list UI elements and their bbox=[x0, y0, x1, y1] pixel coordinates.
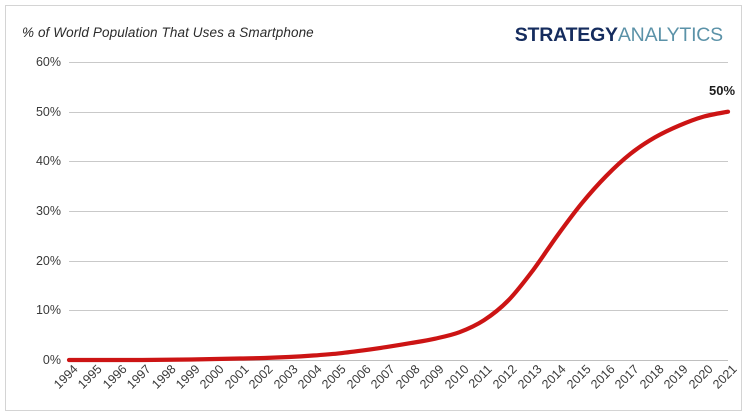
logo-secondary-text: ANALYTICS bbox=[618, 24, 723, 46]
x-axis-tick-label: 1995 bbox=[76, 362, 106, 392]
chart-frame: % of World Population That Uses a Smartp… bbox=[5, 5, 742, 411]
plot-area: 0%10%20%30%40%50%60% 50% bbox=[69, 62, 728, 360]
x-axis-tick-label: 1996 bbox=[100, 362, 130, 392]
smartphone-adoption-line bbox=[69, 112, 728, 360]
x-axis-labels-group: 1994199519961997199819992000200120022003… bbox=[69, 362, 728, 420]
x-axis-tick-label: 2005 bbox=[320, 362, 350, 392]
chart-title: % of World Population That Uses a Smartp… bbox=[22, 25, 314, 40]
x-axis-tick-label: 2002 bbox=[246, 362, 276, 392]
x-axis-tick-label: 1999 bbox=[173, 362, 203, 392]
x-axis-tick-label: 2017 bbox=[613, 362, 643, 392]
logo-primary-text: STRATEGY bbox=[515, 24, 618, 46]
series-line-chart bbox=[69, 62, 728, 360]
x-axis-tick-label: 2012 bbox=[490, 362, 520, 392]
strategy-analytics-logo: STRATEGYANALYTICS bbox=[515, 24, 723, 47]
x-axis-tick-label: 2007 bbox=[368, 362, 398, 392]
y-axis-tick-label: 40% bbox=[36, 154, 61, 168]
x-axis-tick-label: 2003 bbox=[271, 362, 301, 392]
x-axis-tick-label: 2020 bbox=[686, 362, 716, 392]
x-axis-tick-label: 2006 bbox=[344, 362, 374, 392]
x-axis-tick-label: 2015 bbox=[564, 362, 594, 392]
x-axis-tick-label: 2013 bbox=[515, 362, 545, 392]
x-axis-tick-label: 2016 bbox=[588, 362, 618, 392]
y-axis-tick-label: 50% bbox=[36, 105, 61, 119]
x-axis-tick-label: 1998 bbox=[149, 362, 179, 392]
y-axis-tick-label: 20% bbox=[36, 254, 61, 268]
end-value-data-label: 50% bbox=[709, 83, 735, 98]
x-axis-tick-label: 2008 bbox=[393, 362, 423, 392]
x-axis-tick-label: 2019 bbox=[661, 362, 691, 392]
x-axis-tick-label: 2018 bbox=[637, 362, 667, 392]
y-axis-tick-label: 0% bbox=[43, 353, 61, 367]
x-axis-tick-label: 2014 bbox=[539, 362, 569, 392]
x-axis-tick-label: 2000 bbox=[198, 362, 228, 392]
x-axis-tick-label: 2011 bbox=[466, 362, 495, 391]
x-axis-tick-label: 2021 bbox=[710, 362, 740, 392]
x-axis-tick-label: 2009 bbox=[417, 362, 447, 392]
x-axis-tick-label: 2010 bbox=[442, 362, 472, 392]
y-axis-tick-label: 60% bbox=[36, 55, 61, 69]
y-axis-tick-label: 10% bbox=[36, 303, 61, 317]
x-axis-tick-label: 2001 bbox=[222, 362, 252, 392]
y-axis-tick-label: 30% bbox=[36, 204, 61, 218]
x-axis-tick-label: 2004 bbox=[295, 362, 325, 392]
x-axis-tick-label: 1997 bbox=[124, 362, 154, 392]
